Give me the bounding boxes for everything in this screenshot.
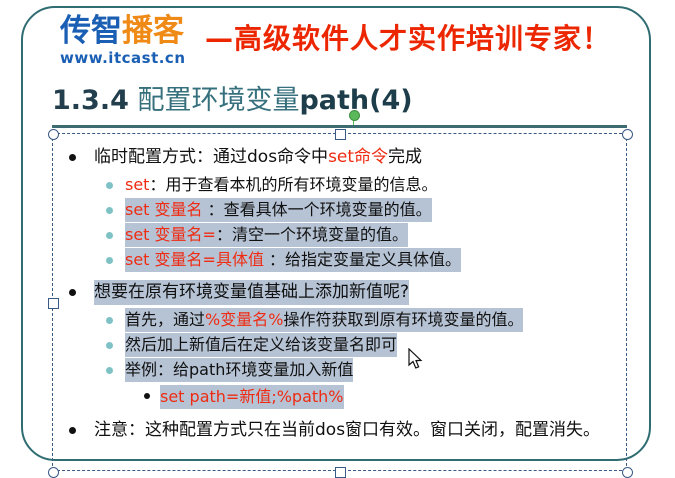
bullet-marker-icon (106, 342, 113, 349)
page-title: 1.3.4 配置环境变量path(4) (52, 84, 627, 118)
text-segment: 完成 (388, 147, 422, 167)
title-number: 1.3.4 (52, 85, 129, 116)
bullet-text: set 变量名=：清空一个环境变量的值。 (125, 223, 408, 247)
text-segment: %变量名% (205, 310, 283, 329)
bullet-line-5: set 变量名=具体值 ：给指定变量定义具体值。 (52, 248, 675, 272)
bullet-text: 临时配置方式：通过dos命令中set命令完成 (94, 145, 422, 170)
bullet-marker-icon (106, 317, 113, 324)
text-segment: ：用于查看本机的所有环境变量的信息。 (149, 175, 437, 194)
header-slogan: —高级软件人才实作培训专家！ (205, 17, 611, 57)
bullet-marker-icon (106, 182, 113, 189)
text-segment: 想要在原有环境变量值基础上添加新值呢? (94, 282, 409, 302)
resize-handle-bottom-left[interactable] (48, 467, 59, 478)
bullet-marker-icon (69, 154, 76, 161)
logo-text-blue: 传智 (60, 13, 122, 49)
bullet-line-7: 首先，通过%变量名%操作符获取到原有环境变量的值。 (52, 308, 675, 332)
title-underline (52, 125, 627, 128)
bullet-marker-icon (106, 257, 113, 264)
text-segment: ：查看具体一个环境变量的值。 (203, 200, 432, 219)
bullet-text: 举例：给path环境变量加入新值 (125, 358, 353, 382)
bullet-line-1: 临时配置方式：通过dos命令中set命令完成 (52, 145, 674, 170)
text-segment: set 变量名=具体值 (125, 250, 264, 269)
bullet-text: set：用于查看本机的所有环境变量的信息。 (125, 173, 437, 197)
bullet-text: 首先，通过%变量名%操作符获取到原有环境变量的值。 (125, 308, 523, 332)
resize-handle-top-left[interactable] (48, 129, 59, 140)
slide-header: 传智播客 www.itcast.cn —高级软件人才实作培训专家！ (0, 0, 675, 82)
bullet-line-10: set path=新值;%path% (52, 385, 675, 409)
bullet-line-11: 注意：这种配置方式只在当前dos窗口有效。窗口关闭，配置消失。 (52, 418, 674, 443)
title-text-cn: 配置环境变量 (129, 85, 300, 116)
text-segment: 操作符获取到原有环境变量的值。 (283, 310, 523, 329)
resize-handle-middle-left[interactable] (48, 298, 59, 309)
bullet-marker-icon (69, 289, 76, 296)
content-placeholder[interactable]: 临时配置方式：通过dos命令中set命令完成set：用于查看本机的所有环境变量的… (52, 133, 632, 471)
bullet-text: set path=新值;%path% (160, 385, 344, 409)
text-segment: 首先，通过 (125, 310, 205, 329)
text-segment: ：清空一个环境变量的值。 (216, 225, 408, 244)
bullet-text: 注意：这种配置方式只在当前dos窗口有效。窗口关闭，配置消失。 (94, 418, 600, 443)
bullet-text: set 变量名=具体值 ：给指定变量定义具体值。 (125, 248, 461, 272)
bullet-line-2: set：用于查看本机的所有环境变量的信息。 (52, 173, 675, 197)
text-segment: set path=新值;%path% (160, 387, 344, 406)
text-segment: set 变量名 (125, 200, 203, 219)
bullet-text: 想要在原有环境变量值基础上添加新值呢? (94, 280, 409, 305)
bullet-marker-icon (106, 232, 113, 239)
bullet-marker-icon (106, 207, 113, 214)
bullet-text: 然后加上新值后在定义给该变量名即可 (125, 333, 397, 357)
text-segment: ：给指定变量定义具体值。 (264, 250, 461, 269)
bullet-line-8: 然后加上新值后在定义给该变量名即可 (52, 333, 675, 357)
resize-handle-top-right[interactable] (622, 129, 633, 140)
bullet-marker-icon (144, 393, 150, 399)
resize-handle-bottom-right[interactable] (622, 467, 633, 478)
bullet-marker-icon (69, 427, 76, 434)
text-segment: 临时配置方式：通过dos命令中 (94, 147, 328, 167)
logo-text-orange: 播客 (122, 13, 184, 49)
text-segment: 然后加上新值后在定义给该变量名即可 (125, 335, 397, 354)
text-segment: set命令 (328, 147, 388, 167)
resize-handle-top-center[interactable] (335, 129, 346, 140)
bullet-marker-icon (106, 367, 113, 374)
text-segment: 举例：给path环境变量加入新值 (125, 360, 353, 379)
text-segment: 注意：这种配置方式只在当前dos窗口有效。窗口关闭，配置消失。 (94, 420, 600, 440)
resize-handle-bottom-center[interactable] (335, 467, 346, 478)
bullet-line-4: set 变量名=：清空一个环境变量的值。 (52, 223, 675, 247)
text-segment: set (125, 175, 149, 194)
rotate-handle-icon[interactable] (349, 110, 360, 121)
bullet-line-3: set 变量名 ：查看具体一个环境变量的值。 (52, 198, 675, 222)
bullet-line-6: 想要在原有环境变量值基础上添加新值呢? (52, 280, 674, 305)
bullet-text: set 变量名 ：查看具体一个环境变量的值。 (125, 198, 432, 222)
text-segment: set 变量名= (125, 225, 216, 244)
bullet-line-9: 举例：给path环境变量加入新值 (52, 358, 675, 382)
mouse-cursor (408, 348, 424, 370)
